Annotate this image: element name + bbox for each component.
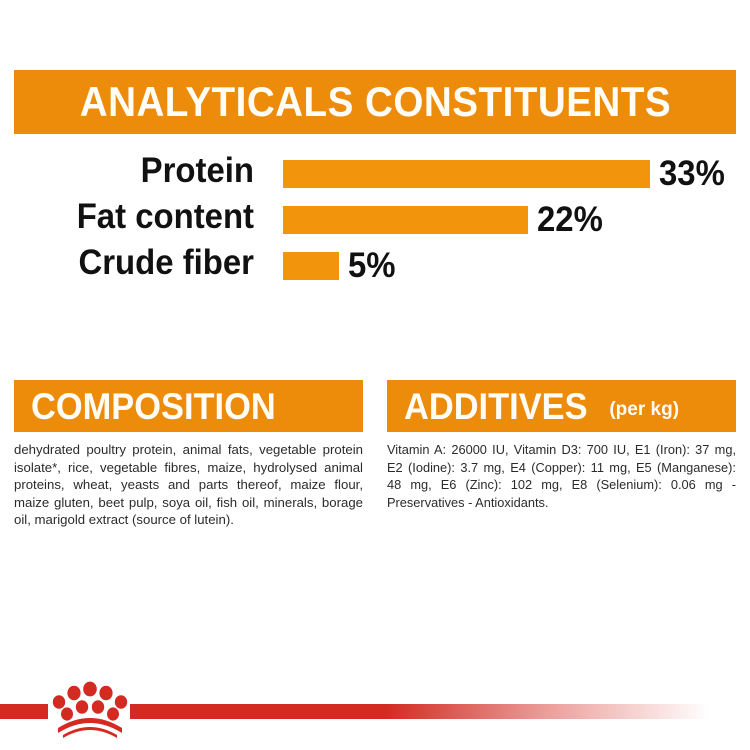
additives-title: ADDITIVES <box>404 388 588 425</box>
composition-section: COMPOSITION dehydrated poultry protein, … <box>14 380 363 529</box>
chart-bar-wrap-protein: 33% <box>283 160 750 188</box>
chart-bar-protein <box>283 160 650 188</box>
chart-value-crude-fiber: 5% <box>348 252 396 280</box>
chart-label-crude-fiber: Crude fiber <box>28 244 254 282</box>
chart-bar-wrap-fat-content: 22% <box>283 206 750 234</box>
footer-rule-left <box>0 704 48 719</box>
additives-section: ADDITIVES (per kg) Vitamin A: 26000 IU, … <box>387 380 736 529</box>
info-sections: COMPOSITION dehydrated poultry protein, … <box>14 380 736 529</box>
chart-label-protein: Protein <box>28 152 254 190</box>
brand-footer <box>0 676 750 750</box>
chart-value-fat-content: 22% <box>537 206 603 234</box>
royal-canin-crown-icon <box>52 676 128 738</box>
page-title: ANALYTICALS CONSTITUENTS <box>79 81 670 123</box>
chart-bar-crude-fiber <box>283 252 339 280</box>
analyticals-bar-chart: Protein 33% Fat content 22% Crude fiber … <box>0 152 750 290</box>
footer-rule-right <box>130 704 710 719</box>
chart-row-crude-fiber: Crude fiber 5% <box>0 244 750 290</box>
chart-row-protein: Protein 33% <box>0 152 750 198</box>
composition-title: COMPOSITION <box>31 388 276 425</box>
chart-bar-fat-content <box>283 206 528 234</box>
analyticals-constituents-banner: ANALYTICALS CONSTITUENTS <box>14 70 736 134</box>
composition-banner: COMPOSITION <box>14 380 363 432</box>
additives-body: Vitamin A: 26000 IU, Vitamin D3: 700 IU,… <box>387 441 736 511</box>
composition-body: dehydrated poultry protein, animal fats,… <box>14 441 363 529</box>
chart-label-fat-content: Fat content <box>28 198 254 236</box>
chart-value-protein: 33% <box>659 160 725 188</box>
additives-banner: ADDITIVES (per kg) <box>387 380 736 432</box>
additives-per-kg-label: (per kg) <box>609 400 679 430</box>
chart-row-fat-content: Fat content 22% <box>0 198 750 244</box>
chart-bar-wrap-crude-fiber: 5% <box>283 252 750 280</box>
